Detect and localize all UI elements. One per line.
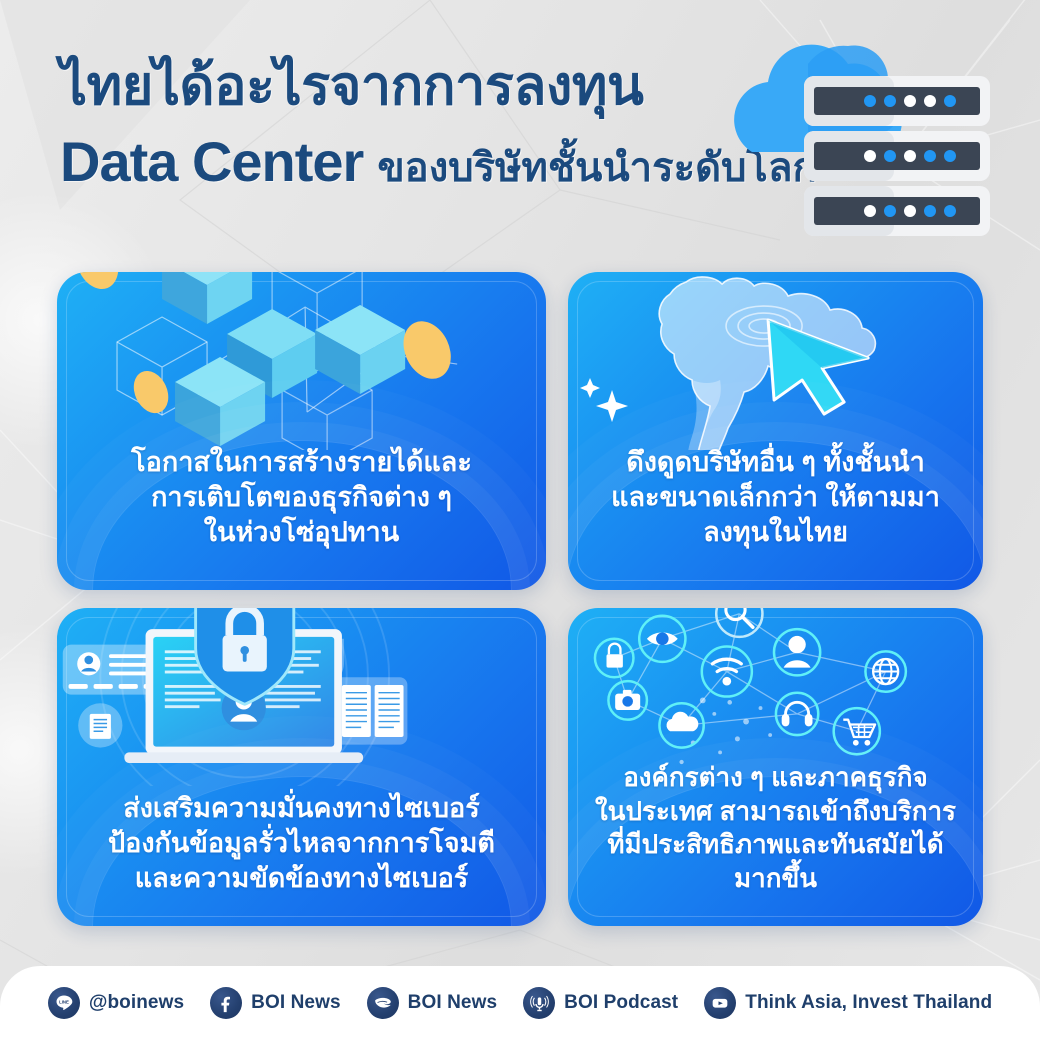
social-footer-bar: LINE @boinews BOI News BOI News — [0, 966, 1040, 1040]
infographic-canvas: ไทยได้อะไรจากการลงทุน Data Centerของบริษ… — [0, 0, 1040, 1040]
caption-line: ลงทุนในไทย — [584, 515, 967, 550]
podcast-icon — [523, 987, 555, 1019]
social-item-facebook[interactable]: BOI News — [197, 987, 354, 1019]
social-item-podcast[interactable]: BOI Podcast — [510, 987, 691, 1019]
caption-line: ที่มีประสิทธิภาพและทันสมัยได้มากขึ้น — [584, 828, 967, 896]
caption-line: โอกาสในการสร้างรายได้และ — [73, 445, 530, 480]
card-digital-services[interactable]: องค์กรต่าง ๆ และภาคธุรกิจ ในประเทศ สามาร… — [568, 608, 983, 926]
caption-line: ในประเทศ สามารถเข้าถึงบริการ — [584, 795, 967, 829]
search-icon — [716, 608, 762, 637]
camera-icon — [608, 681, 647, 720]
card-revenue-growth[interactable]: โอกาสในการสร้างรายได้และ การเติบโตของธุร… — [57, 272, 546, 590]
social-item-youtube[interactable]: Think Asia, Invest Thailand — [691, 987, 1005, 1019]
thailand-map-cursor-illustration — [568, 272, 983, 450]
document-list-icon — [334, 677, 407, 744]
eye-icon — [639, 616, 685, 662]
svg-text:LINE: LINE — [59, 999, 69, 1004]
globe-icon — [865, 651, 905, 691]
caption-line: องค์กรต่าง ๆ และภาคธุรกิจ — [584, 761, 967, 795]
cube-icon — [162, 272, 252, 324]
laptop-shield-lock-illustration — [57, 608, 528, 786]
card-caption: ดึงดูดบริษัทอื่น ๆ ทั้งชั้นนำ และขนาดเล็… — [584, 445, 967, 556]
title-line-2: Data Centerของบริษัทชั้นนำระดับโลก — [60, 131, 817, 193]
caption-line: และขนาดเล็กกว่า ให้ตามมา — [584, 480, 967, 515]
social-label: @boinews — [89, 992, 184, 1014]
document-icon — [78, 703, 122, 747]
user-icon — [774, 629, 820, 675]
caption-line: ในห่วงโซ่อุปทาน — [73, 515, 530, 550]
youtube-icon — [704, 987, 736, 1019]
caption-line: ส่งเสริมความมั่นคงทางไซเบอร์ — [73, 791, 530, 826]
title-line-1: ไทยได้อะไรจากการลงทุน — [60, 55, 817, 117]
cube-icon — [315, 305, 405, 394]
social-label: Think Asia, Invest Thailand — [745, 992, 992, 1014]
facebook-icon — [210, 987, 242, 1019]
header: ไทยได้อะไรจากการลงทุน Data Centerของบริษ… — [0, 0, 1040, 256]
sparkle-icon — [580, 378, 628, 422]
page-title: ไทยได้อะไรจากการลงทุน Data Centerของบริษ… — [60, 55, 817, 193]
cloud-icon — [659, 703, 703, 747]
caption-line: และความขัดข้องทางไซเบอร์ — [73, 861, 530, 896]
card-attract-investment[interactable]: ดึงดูดบริษัทอื่น ๆ ทั้งชั้นนำ และขนาดเล็… — [568, 272, 983, 590]
card-caption: ส่งเสริมความมั่นคงทางไซเบอร์ ป้องกันข้อม… — [73, 791, 530, 902]
line-icon: LINE — [48, 987, 80, 1019]
card-caption: องค์กรต่าง ๆ และภาคธุรกิจ ในประเทศ สามาร… — [584, 761, 967, 902]
wing-icon — [367, 987, 399, 1019]
social-item-line[interactable]: LINE @boinews — [35, 987, 197, 1019]
social-label: BOI Podcast — [564, 992, 678, 1014]
social-label: BOI News — [251, 992, 341, 1014]
caption-line: ดึงดูดบริษัทอื่น ๆ ทั้งชั้นนำ — [584, 445, 967, 480]
card-caption: โอกาสในการสร้างรายได้และ การเติบโตของธุร… — [73, 445, 530, 556]
lock-icon — [595, 639, 634, 678]
card-cyber-security[interactable]: ส่งเสริมความมั่นคงทางไซเบอร์ ป้องกันข้อม… — [57, 608, 546, 926]
benefit-cards-grid: โอกาสในการสร้างรายได้และ การเติบโตของธุร… — [57, 272, 983, 926]
title-data-center: Data Center — [60, 130, 363, 193]
server-rack-icon — [804, 76, 990, 236]
blockchain-cubes-illustration — [57, 272, 546, 450]
cloud-server-illustration — [712, 34, 1012, 256]
social-label: BOI News — [408, 992, 498, 1014]
network-links — [614, 614, 885, 731]
social-item-wing[interactable]: BOI News — [354, 987, 511, 1019]
caption-line: การเติบโตของธุรกิจต่าง ๆ — [73, 480, 530, 515]
connected-icons-network-illustration — [568, 608, 967, 786]
caption-line: ป้องกันข้อมูลรั่วไหลจากการโจมตี — [73, 826, 530, 861]
